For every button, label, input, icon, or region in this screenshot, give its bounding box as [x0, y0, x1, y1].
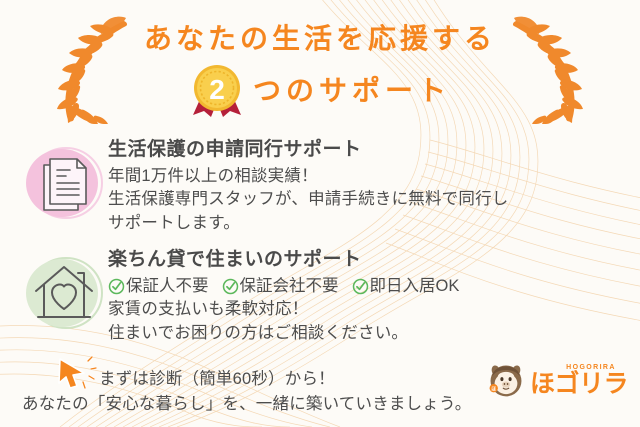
- support-item-1-title: 生活保護の申請同行サポート: [108, 138, 622, 162]
- support-item-1-line-1: 年間1万件以上の相談実績！: [108, 165, 622, 188]
- support-item-1-body: 生活保護の申請同行サポート 年間1万件以上の相談実績！ 生活保護専門スタッフが、…: [108, 137, 622, 235]
- header-title-block: あなたの生活を応援する 2 つのサポート: [0, 0, 640, 116]
- support-item-2-title: 楽ちん貸で住まいのサポート: [108, 248, 622, 272]
- support-item-1-line-3: サポートします。: [108, 212, 622, 235]
- support-item-1-line-2: 生活保護専門スタッフが、申請手続きに無料で同行し: [108, 188, 622, 211]
- check-item-3: 即日入居OK: [352, 275, 460, 298]
- brand-logo-text: HOGORIRA ほゴリラ: [530, 364, 628, 397]
- check-item-2-label: 保証会社不要: [240, 275, 339, 298]
- check-circle-icon: [222, 278, 239, 295]
- check-item-2: 保証会社不要: [222, 275, 339, 298]
- support-item-2-body: 楽ちん貸で住まいのサポート 保証人不要 保証会社不要: [108, 247, 622, 345]
- gorilla-mascot-icon: ほ: [486, 360, 526, 400]
- support-item-2-check-row: 保証人不要 保証会社不要 即日入居OK: [108, 275, 622, 298]
- banner-header: あなたの生活を応援する 2 つのサポート: [0, 0, 640, 132]
- check-item-3-label: 即日入居OK: [370, 275, 460, 298]
- promo-banner: あなたの生活を応援する 2 つのサポート: [0, 0, 640, 427]
- brand-logo[interactable]: ほ HOGORIRA ほゴリラ: [486, 360, 628, 400]
- house-icon-badge: [22, 247, 108, 339]
- support-item-1: 生活保護の申請同行サポート 年間1万件以上の相談実績！ 生活保護専門スタッフが、…: [22, 137, 622, 235]
- brand-logo-jp: ほゴリラ: [530, 372, 628, 397]
- support-item-2-line-2: 住まいでお困りの方はご相談ください。: [108, 322, 622, 345]
- document-stack-icon: [44, 159, 86, 210]
- support-item-2: 楽ちん貸で住まいのサポート 保証人不要 保証会社不要: [22, 247, 622, 345]
- badge-number-text: 2: [209, 74, 225, 105]
- headline-line-2-row: 2 つのサポート: [0, 62, 640, 116]
- headline-line-2: つのサポート: [249, 69, 451, 109]
- check-circle-icon: [108, 278, 125, 295]
- number-badge: 2: [189, 61, 245, 117]
- footer-cta-line-1: まずは診断（簡単60秒）から！: [99, 365, 335, 389]
- click-cursor-icon: [58, 356, 98, 390]
- headline-line-1: あなたの生活を応援する: [0, 24, 640, 53]
- footer-cta-line-2: あなたの「安心な暮らし」を、一緒に築いていきましょう。: [22, 390, 471, 414]
- support-item-2-line-1: 家賃の支払いも柔軟対応！: [108, 298, 622, 321]
- document-icon-badge: [22, 137, 108, 229]
- check-circle-icon: [352, 278, 369, 295]
- check-item-1-label: 保証人不要: [126, 275, 209, 298]
- banner-footer: まずは診断（簡単60秒）から！ あなたの「安心な暮らし」を、一緒に築いていきまし…: [0, 352, 640, 427]
- svg-text:ほ: ほ: [491, 387, 496, 393]
- check-item-1: 保証人不要: [108, 275, 209, 298]
